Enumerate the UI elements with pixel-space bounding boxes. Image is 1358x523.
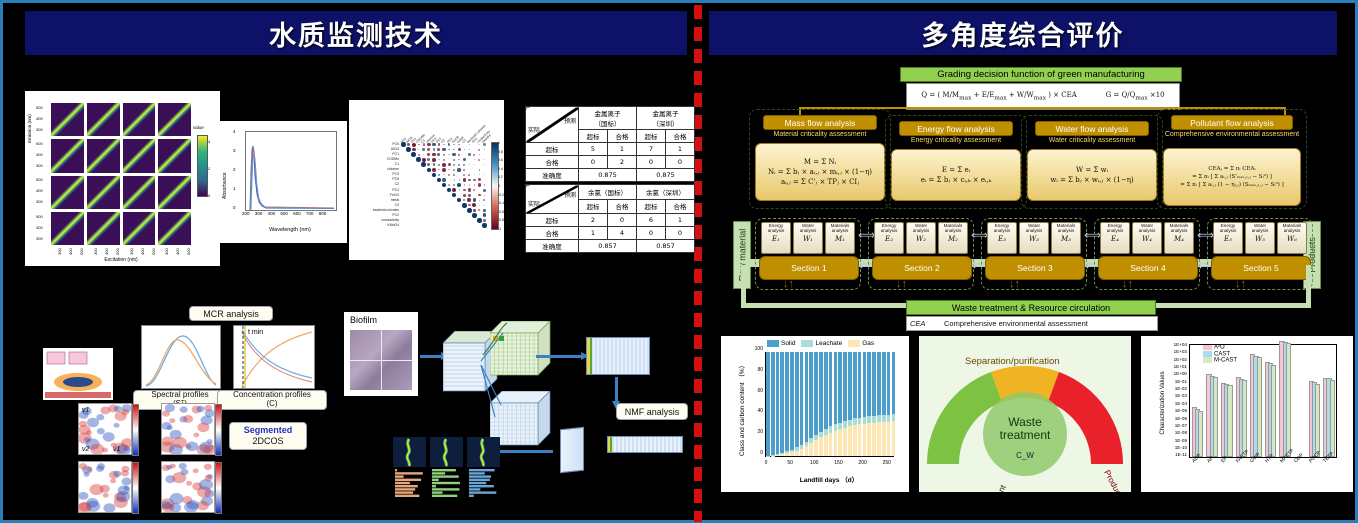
correlation-row-label: PC6	[349, 142, 399, 146]
legend-swatch	[801, 340, 813, 347]
area-bar-gas	[795, 451, 799, 456]
area-bar-leachate	[867, 416, 871, 423]
area-bar-gas	[829, 433, 833, 457]
cea-legend-bar: CEA Comprehensive environmental assessme…	[906, 316, 1158, 331]
mcr-time-marker: t min	[248, 329, 263, 336]
flow-formula-box: W = Σ wᵢwᵢ = Σ bⱼ × wᵢ,ⱼ × (1−η)	[1027, 149, 1157, 201]
eem-ytick: 500	[36, 141, 43, 146]
correlation-dot	[484, 174, 485, 175]
area-bar-leachate	[887, 415, 891, 422]
area-bar-gas	[814, 440, 818, 456]
correlation-dot	[454, 179, 455, 180]
area-bar-gas	[800, 449, 804, 456]
eem-ytick: 400	[36, 152, 43, 157]
uv-xtick: 400	[268, 211, 276, 216]
eem-cell-grid: 17181920212223242526272829303132	[51, 103, 191, 245]
landfill-ytick: 40	[745, 408, 763, 414]
correlation-dot	[468, 174, 470, 176]
area-bar-solid	[824, 352, 828, 429]
uv-xtick: 600	[293, 211, 301, 216]
waste-treatment-wheel-panel: Waste treatment C_W Pretreatment Separat…	[919, 336, 1131, 492]
correlation-dot	[453, 174, 455, 176]
area-bar-gas	[892, 421, 896, 456]
flow-formula: M = Σ Nᵢ	[804, 158, 836, 166]
section-meter-title: Energy analysis	[762, 224, 790, 234]
landfill-ytick: 60	[745, 388, 763, 394]
area-bar-solid	[785, 352, 789, 451]
area-bar-solid	[872, 352, 876, 416]
unfolded-matrix	[586, 337, 650, 375]
area-bar-leachate	[838, 423, 842, 429]
area-bar-gas	[843, 428, 847, 456]
correlation-dot	[468, 204, 471, 207]
landfill-xtick: 100	[807, 460, 821, 466]
area-bar-leachate	[805, 442, 809, 446]
svg-text:Pretreatment: Pretreatment	[976, 482, 1008, 492]
biofilm-title: Biofilm	[350, 316, 377, 325]
area-bar-gas	[838, 429, 842, 456]
area-bar-solid	[858, 352, 862, 418]
correlation-dot	[453, 164, 455, 166]
section-meter: Energy analysisE₂	[874, 222, 904, 254]
eem-xtick: 300	[93, 248, 98, 255]
correlation-row-label: C1	[349, 162, 399, 166]
section-meter-title: Energy analysis	[875, 224, 903, 234]
lca-ytick: 1E-05	[1151, 408, 1187, 413]
section-meter-title: Energy analysis	[1214, 224, 1242, 234]
section-meter-symbol: E₄	[1111, 235, 1119, 243]
area-bar-gas	[824, 435, 828, 456]
area-bar-gas	[882, 422, 886, 456]
section-box[interactable]: Section 1	[759, 256, 859, 280]
svg-text:treatment: treatment	[1000, 428, 1051, 442]
correlation-dot	[442, 168, 446, 172]
section-meter: Energy analysisE₁	[761, 222, 791, 254]
correlation-dot	[462, 203, 467, 208]
table-cell: 1	[579, 227, 608, 240]
eem-colorbar-tick: 2	[208, 166, 210, 171]
correlation-dot	[442, 178, 445, 181]
correlation-dot	[453, 184, 455, 186]
correlation-dot	[474, 174, 475, 175]
lca-ytick: 1E+01	[1151, 364, 1187, 369]
segmented-2dcos-label: Segmented 2DCOS	[229, 422, 307, 450]
correlation-dot	[483, 213, 487, 217]
correlation-dot	[448, 149, 449, 150]
twodcos-colorbar	[132, 404, 139, 456]
uv-xlabel: Wavelength (nm)	[245, 227, 335, 233]
lca-bar	[1242, 380, 1247, 457]
eem-xtick: 400	[104, 248, 109, 255]
correlation-dot	[463, 174, 465, 176]
correlation-dot	[453, 169, 455, 171]
correlation-colorbar-tick: -0.6	[498, 210, 504, 214]
area-bar-leachate	[785, 451, 789, 453]
flow-formula-box: M = Σ NᵢNᵢ = Σ bⱼ × aᵢ,ⱼ × mᵢ,ⱼ × (1−η)a…	[755, 143, 885, 201]
eem-cell: 25	[51, 176, 84, 209]
correlation-dot	[483, 209, 486, 212]
correlation-dot	[427, 158, 430, 161]
correlation-dot	[464, 184, 465, 185]
uv-ytick: 1	[233, 186, 236, 191]
correlation-dot	[484, 149, 485, 150]
correlation-dot	[448, 184, 449, 185]
table-corner: 预测实际	[526, 107, 579, 143]
area-bar-gas	[853, 425, 857, 456]
area-bar-leachate	[853, 418, 857, 425]
lca-ytick: 1E+04	[1151, 342, 1187, 347]
confusion-table: 预测实际余氯（国标）余氯（深圳）超标合格超标合格超标2061合格1400准确度0…	[525, 184, 695, 253]
section-meter-symbol: W₂	[916, 235, 926, 243]
correlation-dot	[468, 194, 471, 197]
correlation-colorbar-tick: -0.2	[498, 193, 504, 197]
correlation-row-label: conductivity	[349, 218, 399, 222]
correlation-dot	[442, 163, 446, 167]
correlation-dot	[457, 183, 461, 187]
correlation-dot	[474, 184, 475, 185]
correlation-dot	[427, 163, 430, 166]
correlation-dot	[468, 153, 471, 156]
eem-cell: 22	[87, 139, 120, 172]
correlation-dot	[458, 148, 461, 151]
correlation-dot	[453, 159, 455, 161]
confusion-table: 预测实际金属离子（国标）金属离子（深圳）超标合格超标合格超标5171合格0200…	[525, 106, 695, 182]
table-subheader: 合格	[608, 199, 637, 214]
table-cell: 0	[666, 227, 695, 240]
section-meter: Energy analysisE₄	[1100, 222, 1130, 254]
eem-colorbar-label: value	[193, 125, 204, 130]
area-bar-leachate	[863, 417, 867, 424]
lca-plot-area	[1189, 344, 1337, 458]
flow-title: Mass flow analysis	[763, 115, 877, 130]
correlation-dot	[484, 164, 485, 165]
table-cell: 1	[608, 143, 637, 156]
eem-cell: 17	[51, 103, 84, 136]
flow-formula-box: E = Σ eᵢeᵢ = Σ bⱼ × cᵢ,ₖ × eᵢ,ₖ	[891, 149, 1021, 201]
correlation-dot	[443, 144, 444, 145]
flow-formula: aᵢ,ⱼ = Σ C'ⱼ × TPⱼ × CIⱼ	[781, 178, 859, 186]
area-bar-solid	[843, 352, 847, 421]
area-bar-solid	[834, 352, 838, 424]
eem-cell: 21	[51, 139, 84, 172]
area-bar-solid	[819, 352, 823, 432]
table-cell: 7	[637, 143, 666, 156]
flow-formula: E = Σ eᵢ	[942, 166, 970, 174]
flow-formula: = Σ πᵢ [ Σ aᵢ,ⱼ (1 − ηᵢ,ⱼ) (Sₘₐₓ,ᵢ,ⱼ − S…	[1180, 182, 1284, 188]
correlation-dot	[473, 179, 475, 181]
lca-ytick: 1E-01	[1151, 379, 1187, 384]
lca-ytick: 1E+02	[1151, 357, 1187, 362]
correlation-colorbar-tick: 0.6	[498, 158, 503, 162]
cea-abbr: CEA	[907, 319, 944, 328]
table-subheader: 超标	[579, 130, 608, 143]
section-meter-title: Materials analysis	[826, 224, 854, 234]
correlation-dot	[479, 144, 480, 145]
area-bar-leachate	[771, 455, 775, 456]
correlation-dot	[484, 205, 485, 206]
concentration-profiles-caption: Concentration profiles (C)	[217, 390, 327, 410]
twodcos-axis-label: ν2	[82, 446, 89, 453]
poster-root: 水质监测技术 多角度综合评价 1718192021222324252627282…	[0, 0, 1358, 523]
eem-cell: 19	[123, 103, 156, 136]
correlation-dot	[438, 164, 440, 166]
correlation-dot	[479, 169, 481, 171]
nmf-component-image	[467, 437, 500, 467]
section-meter-symbol: M₁	[835, 235, 845, 243]
flow-title: Energy flow analysis	[899, 121, 1013, 136]
lca-ytick: 1E-07	[1151, 423, 1187, 428]
area-bar-leachate	[824, 429, 828, 435]
area-bar-leachate	[814, 435, 818, 440]
landfill-xlabel: Landfill days （d）	[765, 474, 893, 484]
eem-fluorescence-grid: 17181920212223242526272829303132 Emissio…	[25, 91, 220, 266]
waste-downflow-arrow: ↓↑	[783, 279, 789, 301]
recirculation-right-riser	[1306, 265, 1311, 307]
svg-text:Waste: Waste	[1008, 415, 1042, 429]
correlation-colorbar-tick: 0.8	[498, 150, 503, 154]
correlation-dot	[448, 169, 449, 170]
correlation-dot	[433, 163, 436, 166]
section-meter-symbol: M₃	[1061, 235, 1071, 243]
area-bar-leachate	[829, 426, 833, 432]
correlation-dot	[422, 158, 426, 162]
correlation-dot	[442, 148, 445, 151]
segmented-2dcos-line1: Segmented	[244, 425, 293, 436]
eem-ytick: 500	[36, 177, 43, 182]
twodcos-plot	[161, 403, 215, 455]
eem-ytick: 400	[36, 188, 43, 193]
eem-cell: 27	[123, 176, 156, 209]
correlation-dot	[474, 159, 475, 160]
landfill-ytick: 80	[745, 367, 763, 373]
legend-swatch	[848, 340, 860, 347]
table-row-label: 合格	[526, 227, 579, 240]
correlation-dot	[418, 154, 420, 156]
correlation-dot	[422, 148, 425, 151]
correlation-dot	[432, 168, 436, 172]
waste-downflow-arrow: ↓↑	[1009, 279, 1015, 301]
correlation-dot	[423, 154, 424, 155]
lca-ytick: 1E+03	[1151, 349, 1187, 354]
correlation-row-label: CODMn	[349, 157, 399, 161]
section-meter: Materials analysisM₄	[1164, 222, 1194, 254]
eem-ytick: 300	[36, 236, 43, 241]
correlation-dot	[484, 184, 485, 185]
section-meter-title: Energy analysis	[1101, 224, 1129, 234]
legend-swatch	[767, 340, 779, 347]
legend-item: Solid	[767, 340, 795, 347]
flow-formula: wᵢ = Σ bⱼ × wᵢ,ⱼ × (1−η)	[1050, 176, 1133, 184]
correlation-row-label: C3	[349, 203, 399, 207]
correlation-dot	[432, 173, 437, 178]
correlation-row-label: bacterial colonies	[349, 208, 399, 212]
correlation-dot	[473, 209, 477, 213]
twodcos-colorbar	[215, 404, 222, 456]
area-bar-gas	[877, 422, 881, 456]
correlation-dot	[479, 205, 480, 206]
correlation-plot-area	[401, 142, 487, 228]
lca-bar	[1227, 385, 1232, 457]
correlation-dot	[416, 157, 421, 162]
eem-xtick: 400	[68, 248, 73, 255]
correlation-dot	[442, 183, 447, 188]
eem-ytick: 400	[36, 116, 43, 121]
section-box[interactable]: Section 4	[1098, 256, 1198, 280]
area-bar-solid	[776, 352, 780, 454]
section-meter: Materials analysisM₃	[1051, 222, 1081, 254]
flow-formula: eᵢ = Σ bⱼ × cᵢ,ₖ × eᵢ,ₖ	[921, 176, 991, 184]
eem-cell: 23	[123, 139, 156, 172]
area-bar-leachate	[892, 414, 896, 421]
area-bar-solid	[780, 352, 784, 453]
correlation-dot	[482, 223, 487, 228]
section-box[interactable]: Section 3	[985, 256, 1085, 280]
correlation-dot	[468, 179, 471, 182]
area-bar-solid	[892, 352, 896, 414]
correlation-dot	[452, 153, 455, 156]
section-meter-symbol: E₁	[772, 235, 780, 243]
landfill-xtick: 250	[880, 460, 894, 466]
eem-xlabel: Excitation (nm)	[51, 257, 191, 263]
correlation-dot	[447, 188, 452, 193]
correlation-dot	[438, 174, 440, 176]
area-bar-gas	[776, 455, 780, 456]
landfill-xtick: 200	[856, 460, 870, 466]
area-bar-gas	[872, 423, 876, 456]
table-accuracy-value: 0.857	[637, 240, 695, 253]
twodcos-colorbar	[215, 462, 222, 514]
table-cell: 2	[608, 156, 637, 169]
correlation-dot	[463, 178, 466, 181]
section-meter-title: Water analysis	[1246, 224, 1274, 234]
area-bar-gas	[785, 453, 789, 456]
svg-text:C_W: C_W	[1016, 451, 1034, 460]
section-meter-title: Water analysis	[1133, 224, 1161, 234]
lca-bar	[1213, 377, 1218, 457]
table-accuracy-value: 0.875	[637, 169, 695, 182]
correlation-dot	[433, 148, 435, 150]
sample-schematic-panel	[43, 348, 113, 400]
section-box[interactable]: Section 5	[1211, 256, 1311, 280]
correlation-matrix-panel: PC6AlCl3PC1CODMnC1chlorinePC3PC5C2PC4FeC…	[349, 100, 504, 260]
section-box[interactable]: Section 2	[872, 256, 972, 280]
correlation-dot	[458, 154, 460, 156]
table-subheader: 合格	[608, 130, 637, 143]
correlation-dot	[474, 164, 475, 165]
lca-ytick: 1E-10	[1151, 445, 1187, 450]
eem-cell: 32	[158, 212, 191, 245]
correlation-dot	[432, 158, 436, 162]
correlation-dot	[483, 199, 485, 201]
lca-ytick: 1E-02	[1151, 386, 1187, 391]
landfill-ylabel: Class and carbon content （%）	[736, 349, 746, 469]
section-meter-title: Materials analysis	[1052, 224, 1080, 234]
arrow-cube-to-matrix	[536, 355, 582, 358]
section-meter-symbol: E₅	[1224, 235, 1232, 243]
area-bar-gas	[887, 422, 891, 456]
eem-cell: 20	[158, 103, 191, 136]
concentration-caption-line2: (C)	[266, 400, 277, 409]
table-cell: 5	[579, 143, 608, 156]
area-bar-leachate	[848, 420, 852, 427]
spectral-curves	[142, 326, 220, 388]
correlation-dot	[468, 188, 471, 191]
correlation-dot	[448, 174, 449, 175]
lca-bar	[1286, 343, 1291, 457]
landfill-ytick: 100	[745, 346, 763, 352]
landfill-xtick: 150	[831, 460, 845, 466]
section-meter: Water analysisW₅	[1245, 222, 1275, 254]
correlation-dot	[473, 189, 475, 191]
twodcos-plot	[161, 461, 215, 513]
correlation-dot	[443, 174, 444, 175]
section-meter-symbol: W₃	[1029, 235, 1039, 243]
concentration-profiles-plot: t min	[233, 325, 315, 389]
area-bar-solid	[814, 352, 818, 435]
formula-g: G = Q/Qmax ×10	[1106, 91, 1165, 101]
correlation-dot	[411, 152, 416, 157]
section-meter: Materials analysisM₂	[938, 222, 968, 254]
correlation-dot	[438, 169, 439, 170]
arrow-down-to-nmf	[615, 377, 618, 401]
left-title-text: 水质监测技术	[269, 14, 443, 53]
table-row-label: 超标	[526, 214, 579, 227]
uv-xtick: 800	[319, 211, 327, 216]
correlation-row-label: PC4	[349, 188, 399, 192]
biofilm-micrograph	[350, 330, 412, 390]
section-meter: Water analysisW₃	[1019, 222, 1049, 254]
eem-ylabel: Emission (nm)	[27, 114, 32, 143]
section-meter: Energy analysisE₃	[987, 222, 1017, 254]
correlation-dot	[463, 164, 465, 166]
correlation-dot	[479, 154, 480, 155]
correlation-row-label: PC3	[349, 172, 399, 176]
correlation-dot	[484, 159, 485, 160]
correlation-dot	[427, 168, 432, 173]
correlation-dot	[473, 154, 475, 156]
grading-decision-title: Grading decision function of green manuf…	[900, 67, 1182, 82]
concentration-curves	[234, 326, 314, 388]
flow-subtitle: Material criticality assessment	[755, 131, 885, 138]
section-meter: Water analysisW₂	[906, 222, 936, 254]
lca-ytick: 1E-08	[1151, 430, 1187, 435]
table-cell: 0	[637, 156, 666, 169]
landfill-chart-legend: SolidLeachateGas	[767, 340, 880, 347]
eem-xtick: 400	[140, 248, 145, 255]
table-corner: 预测实际	[526, 185, 579, 214]
legend-item: Gas	[848, 340, 874, 347]
lca-ytick: 1E-03	[1151, 393, 1187, 398]
uv-ytick: 4	[233, 129, 236, 134]
table-cell: 0	[637, 227, 666, 240]
landfill-plot-area	[765, 352, 894, 457]
section-meter-symbol: W₁	[803, 235, 813, 243]
eem-xtick: 500	[186, 248, 191, 255]
eem-xtick: 500	[151, 248, 156, 255]
table-accuracy-value: 0.875	[579, 169, 637, 182]
section-meter: Materials analysisM₁	[825, 222, 855, 254]
eem-colorbar-tick: 4	[208, 139, 210, 144]
twodcos-axis-label: ν1	[113, 446, 120, 453]
area-bar-gas	[780, 454, 784, 456]
landfill-ytick: 20	[745, 429, 763, 435]
table-row-label: 合格	[526, 156, 579, 169]
correlation-dot	[473, 198, 477, 202]
area-bar-solid	[853, 352, 857, 418]
area-bar-gas	[858, 424, 862, 456]
biofilm-image-panel: Biofilm	[344, 312, 418, 396]
correlation-dot	[478, 149, 480, 151]
